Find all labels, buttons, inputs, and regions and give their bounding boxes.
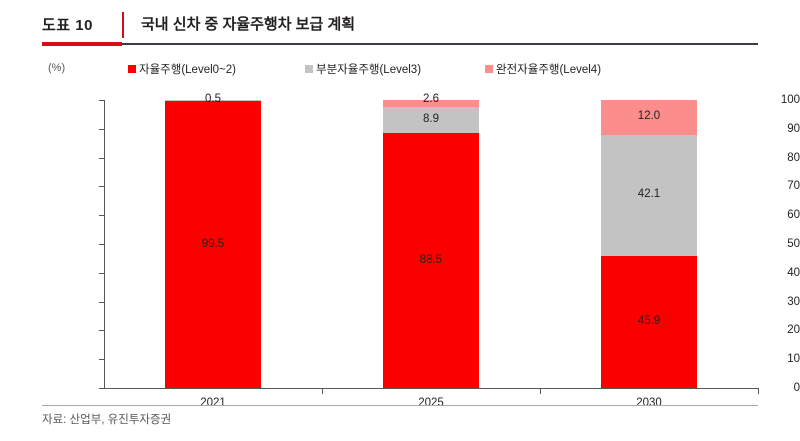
bar-group-2025[interactable]: 88.58.92.6 — [383, 100, 479, 388]
y-axis-tick-label: 0 — [708, 382, 800, 394]
bar-value-label: 8.9 — [383, 113, 479, 125]
y-axis-tick — [99, 273, 104, 274]
legend-label-level4: 완전자율주행(Level4) — [496, 61, 601, 77]
y-axis-tick — [99, 330, 104, 331]
y-axis-tick-label: 90 — [708, 123, 800, 135]
x-axis-tick-label: 2030 — [589, 397, 709, 409]
x-axis-category-tick — [322, 388, 323, 394]
legend-item-level0-2[interactable]: 자율주행(Level0~2) — [128, 61, 236, 77]
y-axis-tick — [99, 244, 104, 245]
y-axis-tick — [99, 302, 104, 303]
footer-divider — [42, 405, 758, 406]
bar-value-label: 42.1 — [601, 188, 697, 200]
legend-item-level4[interactable]: 완전자율주행(Level4) — [485, 61, 601, 77]
y-axis-tick — [99, 100, 104, 101]
header-accent-rule — [42, 42, 122, 46]
y-axis-line — [104, 100, 105, 388]
x-axis-category-tick — [540, 388, 541, 394]
bar-group-2021[interactable]: 99.50.5 — [165, 100, 261, 388]
legend-label-level3: 부분자율주행(Level3) — [316, 61, 421, 77]
legend-item-level3[interactable]: 부분자율주행(Level3) — [305, 61, 421, 77]
bar-value-label: 45.9 — [601, 315, 697, 327]
y-axis-tick-label: 30 — [708, 296, 800, 308]
y-axis-tick — [99, 388, 104, 389]
bar-value-label: 12.0 — [601, 110, 697, 122]
chart-canvas: (%) 자율주행(Level0~2) 부분자율주행(Level3) 완전자율주행… — [0, 48, 800, 403]
y-axis-tick-label: 100 — [708, 94, 800, 106]
y-axis-tick-label: 60 — [708, 209, 800, 221]
header-rule — [122, 43, 758, 45]
bar-value-label: 2.6 — [383, 93, 479, 105]
figure-number-label: 도표 10 — [42, 14, 93, 35]
figure-header: 도표 10 국내 신차 중 자율주행차 보급 계획 — [0, 0, 800, 48]
x-axis-end-tick — [758, 388, 759, 394]
y-axis-tick-label: 20 — [708, 324, 800, 336]
y-axis-tick — [99, 158, 104, 159]
y-axis-tick-label: 50 — [708, 238, 800, 250]
y-axis-tick-label: 80 — [708, 152, 800, 164]
y-axis-tick-label: 70 — [708, 180, 800, 192]
chart-legend: 자율주행(Level0~2) 부분자율주행(Level3) 완전자율주행(Lev… — [128, 61, 688, 79]
legend-swatch-level4 — [485, 65, 493, 73]
y-axis-tick-label: 10 — [708, 353, 800, 365]
figure-title: 국내 신차 중 자율주행차 보급 계획 — [141, 13, 355, 34]
y-axis-tick-label: 40 — [708, 267, 800, 279]
x-axis-line — [104, 388, 758, 389]
x-axis-tick-label: 2025 — [371, 397, 491, 409]
y-axis-unit-label: (%) — [48, 62, 65, 74]
y-axis-tick — [99, 129, 104, 130]
legend-swatch-level0-2 — [128, 65, 136, 73]
bar-value-label: 0.5 — [165, 93, 261, 105]
y-axis-tick — [99, 186, 104, 187]
source-note: 자료: 산업부, 유진투자증권 — [42, 411, 171, 427]
legend-label-level0-2: 자율주행(Level0~2) — [139, 61, 236, 77]
y-axis-tick — [99, 215, 104, 216]
header-vertical-divider — [122, 12, 124, 38]
bar-group-2030[interactable]: 45.942.112.0 — [601, 100, 697, 388]
bar-value-label: 99.5 — [165, 238, 261, 250]
x-axis-tick-label: 2021 — [153, 397, 273, 409]
bar-value-label: 88.5 — [383, 254, 479, 266]
y-axis-tick — [99, 359, 104, 360]
legend-swatch-level3 — [305, 65, 313, 73]
